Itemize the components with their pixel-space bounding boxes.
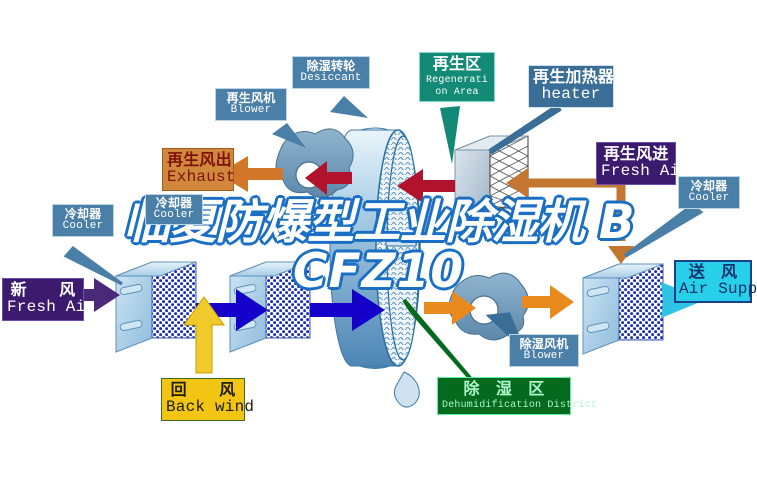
label-cooler-right-en: Cooler [683,193,735,205]
label-back-wind-cn: 回 风 [166,382,240,399]
label-regeneration-blower-en: Blower [220,105,282,117]
label-cooler-middle-en: Cooler [149,210,199,222]
label-cooler-right: 冷却器 Cooler [678,176,740,209]
label-cooler-left-en: Cooler [57,221,109,233]
label-fresh-air: 新 风 Fresh Air [2,278,84,321]
label-exhaust-en: Exhaust [167,169,229,186]
label-regeneration-inlet-cn: 再生风进 [601,146,671,163]
label-cooler-left: 冷却器 Cooler [52,204,114,237]
label-regeneration-inlet-en: Fresh Air [601,163,671,180]
label-back-wind: 回 风 Back wind [161,378,245,421]
label-exhaust: 再生风出 Exhaust [162,148,234,191]
label-regeneration-inlet: 再生风进 Fresh Air [596,142,676,185]
label-dehumidification-district-cn: 除 湿 区 [442,381,566,400]
label-regeneration-area-cn: 再生区 [423,56,491,75]
label-fresh-air-cn: 新 风 [7,282,79,299]
label-dehumidification-district-en: Dehumidification District [442,400,566,412]
label-regeneration-area-en: Regenerati on Area [423,75,491,99]
cooler-unit-right-graphic [583,264,663,354]
label-cooler-middle: 冷却器 Cooler [145,194,203,225]
label-regeneration-area: 再生区 Regenerati on Area [419,52,495,102]
label-desiccant-rotor-en: Desiccant [297,73,365,85]
cooler-unit-left-graphic [116,262,196,352]
label-back-wind-en: Back wind [166,399,240,416]
label-exhaust-cn: 再生风出 [167,152,229,169]
label-dehumidify-blower-en: Blower [514,351,574,363]
label-regeneration-heater-cn: 再生加热器 [533,69,609,86]
label-air-supply: 送 风 Air Supply [674,260,752,303]
label-regeneration-blower-cn: 再生风机 [220,92,282,105]
label-cooler-middle-cn: 冷却器 [149,197,199,210]
arrow-regen-intake [523,183,621,241]
label-dehumidify-blower: 除湿风机 Blower [509,334,579,367]
dehumidifier-schematic-diagram: XT [0,0,757,488]
label-cooler-left-cn: 冷却器 [57,208,109,221]
arrow-dehumid-2 [522,285,574,319]
label-cooler-right-cn: 冷却器 [683,180,735,193]
label-regeneration-heater-en: heater [533,86,609,103]
label-air-supply-en: Air Supply [679,281,747,298]
label-fresh-air-en: Fresh Air [7,299,79,316]
label-desiccant-rotor-cn: 除湿转轮 [297,60,365,73]
label-regeneration-heater: 再生加热器 heater [528,65,614,108]
label-dehumidify-blower-cn: 除湿风机 [514,338,574,351]
label-air-supply-cn: 送 风 [679,264,747,281]
diagram-artwork: XT [0,0,757,488]
label-desiccant-rotor: 除湿转轮 Desiccant [292,56,370,89]
label-dehumidification-district: 除 湿 区 Dehumidification District [437,377,571,415]
label-regeneration-blower: 再生风机 Blower [215,88,287,121]
